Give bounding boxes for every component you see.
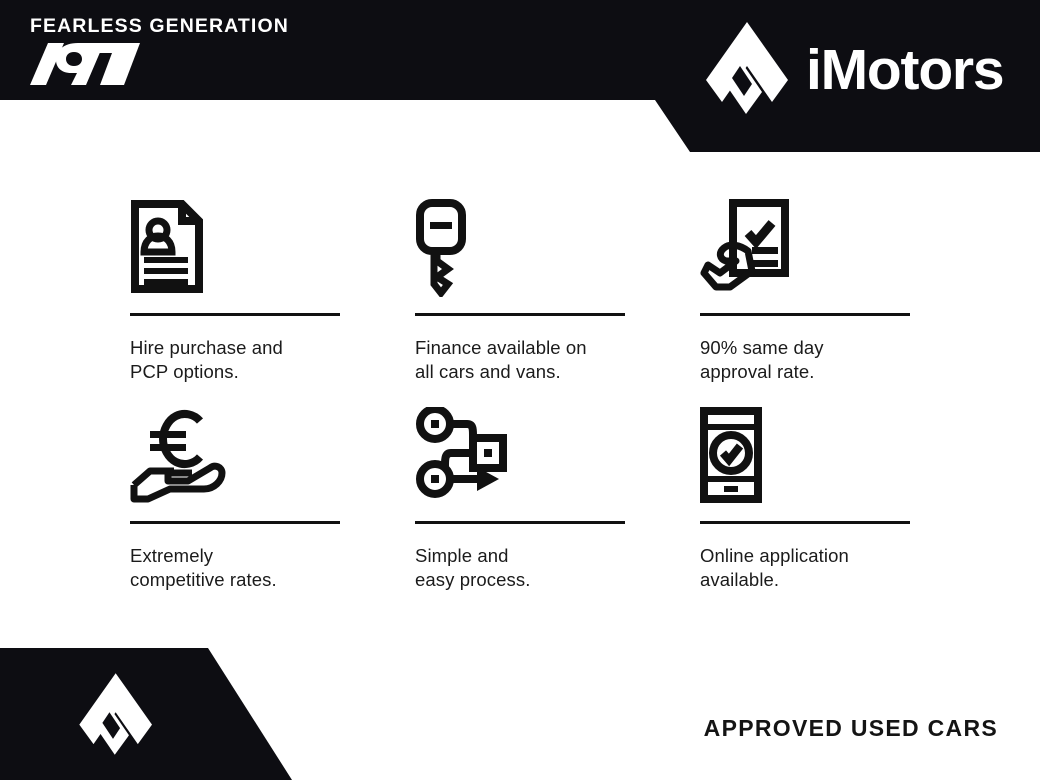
feature-divider [130, 521, 340, 524]
imotors-chevron-logo-icon [700, 22, 788, 119]
year-1971-mark [30, 41, 140, 87]
poster-canvas: FEARLESS GENERATION [0, 0, 1040, 780]
feature-label: Hire purchase and PCP options. [130, 336, 340, 385]
footer-tagline: APPROVED USED CARS [704, 715, 998, 742]
hand-holding-approved-document-icon [700, 195, 910, 305]
car-key-icon [415, 195, 625, 305]
feature-divider [130, 313, 340, 316]
fearless-generation-lockup: FEARLESS GENERATION [30, 17, 289, 87]
imotors-brand-lockup: iMotors [700, 22, 1003, 119]
header-tagline: FEARLESS GENERATION [30, 17, 289, 37]
feature-label: 90% same day approval rate. [700, 336, 910, 385]
feature-item: Simple and easy process. [415, 403, 625, 611]
feature-item: 90% same day approval rate. [700, 195, 910, 403]
feature-label: Simple and easy process. [415, 544, 625, 593]
feature-grid: Hire purchase and PCP options. Finance a… [130, 195, 920, 611]
feature-divider [415, 521, 625, 524]
feature-item: Finance available on all cars and vans. [415, 195, 625, 403]
feature-item: Hire purchase and PCP options. [130, 195, 340, 403]
smartphone-check-icon [700, 403, 910, 513]
feature-label: Online application available. [700, 544, 910, 593]
feature-item: Extremely competitive rates. [130, 403, 340, 611]
feature-item: Online application available. [700, 403, 910, 611]
id-document-person-icon [130, 195, 340, 305]
feature-divider [700, 521, 910, 524]
imotors-wordmark: iMotors [806, 42, 1003, 99]
process-flowchart-icon [415, 403, 625, 513]
feature-divider [415, 313, 625, 316]
footer-imotors-chevron-logo-icon [74, 673, 152, 755]
hand-holding-euro-icon [130, 403, 340, 513]
feature-divider [700, 313, 910, 316]
feature-label: Extremely competitive rates. [130, 544, 340, 593]
feature-label: Finance available on all cars and vans. [415, 336, 625, 385]
